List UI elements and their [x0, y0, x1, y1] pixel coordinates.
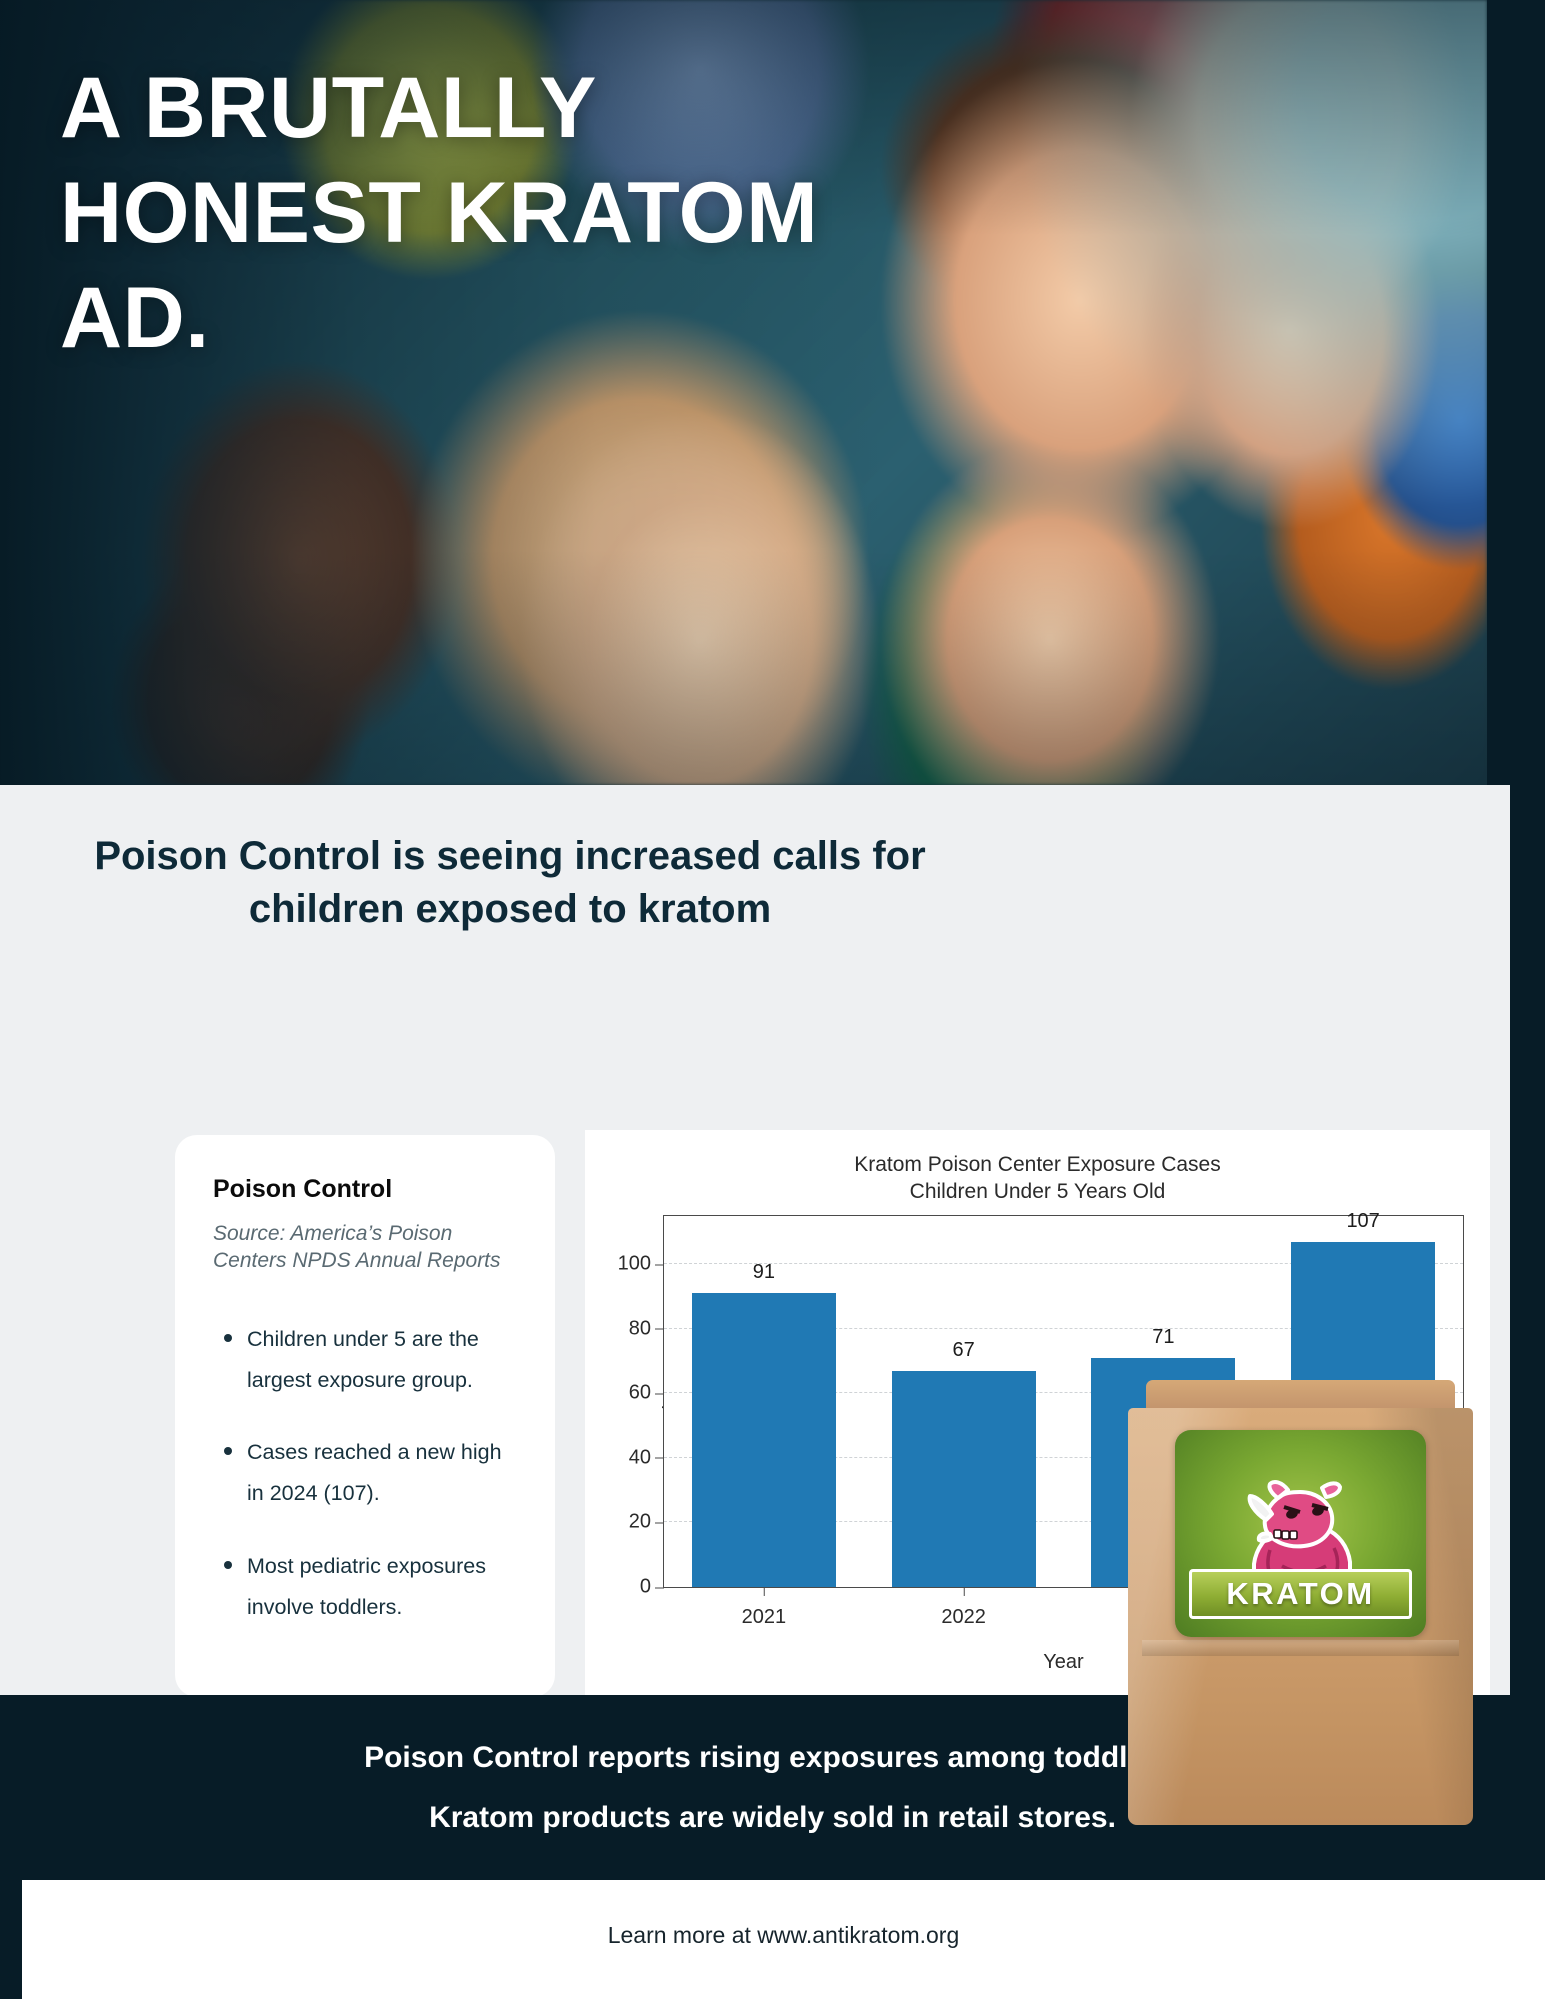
chart-y-tick-label: 0 [640, 1576, 664, 1599]
chart-bar-slot: 912021 [664, 1216, 864, 1587]
brand-name: KRATOM [1226, 1576, 1374, 1612]
hero-banner: A BRUTALLY HONEST KRATOM AD. [0, 0, 1487, 785]
chart-bar-value-label: 107 [1346, 1210, 1379, 1233]
cta-line-1: Poison Control reports rising exposures … [364, 1741, 1181, 1775]
chart-title-line2: Children Under 5 Years Old [585, 1179, 1490, 1206]
footer: Learn more at www.antikratom.org [22, 1880, 1545, 1999]
info-card-bullet-list: Children under 5 are the largest exposur… [213, 1313, 517, 1629]
chart-title: Kratom Poison Center Exposure Cases Chil… [585, 1152, 1490, 1206]
info-card: Poison Control Source: America’s Poison … [175, 1135, 555, 1697]
content-section: Poison Control is seeing increased calls… [0, 785, 1510, 1695]
chart-y-tick-label: 20 [629, 1511, 664, 1534]
chart-y-tick-label: 100 [618, 1253, 664, 1276]
cta-line-2: Kratom products are widely sold in retai… [429, 1801, 1116, 1835]
list-item: Children under 5 are the largest exposur… [247, 1313, 517, 1402]
chart-title-line1: Kratom Poison Center Exposure Cases [585, 1152, 1490, 1179]
brand-ribbon: KRATOM [1189, 1569, 1412, 1619]
chart-bar-slot: 672022 [864, 1216, 1064, 1587]
chart-x-tick-label: 2021 [742, 1606, 787, 1629]
hero-headline: A BRUTALLY HONEST KRATOM AD. [60, 56, 820, 371]
poster-root: A BRUTALLY HONEST KRATOM AD. Poison Cont… [0, 0, 1545, 1999]
pouch-label: KRATOM [1175, 1430, 1426, 1637]
list-item: Most pediatric exposures involve toddler… [247, 1540, 517, 1629]
chart-bar[interactable]: 91 [692, 1293, 836, 1587]
list-item: Cases reached a new high in 2024 (107). [247, 1426, 517, 1515]
sub-headline: Poison Control is seeing increased calls… [80, 830, 940, 936]
kratom-product-pouch: KRATOM [1128, 1380, 1473, 1825]
chart-bar-value-label: 71 [1152, 1326, 1174, 1349]
info-card-source: Source: America’s Poison Centers NPDS An… [213, 1220, 517, 1275]
pouch-seam [1142, 1640, 1459, 1656]
chart-bar-value-label: 67 [953, 1339, 975, 1362]
chart-x-tick-label: 2022 [941, 1606, 986, 1629]
chart-bar-value-label: 91 [753, 1261, 775, 1284]
chart-bar[interactable]: 67 [892, 1371, 1036, 1587]
chart-y-tick-label: 80 [629, 1317, 664, 1340]
chart-y-tick-label: 60 [629, 1382, 664, 1405]
chart-y-tick-label: 40 [629, 1446, 664, 1469]
pouch-body: KRATOM [1128, 1408, 1473, 1825]
info-card-title: Poison Control [213, 1175, 517, 1204]
footer-link[interactable]: Learn more at www.antikratom.org [608, 1922, 960, 1949]
